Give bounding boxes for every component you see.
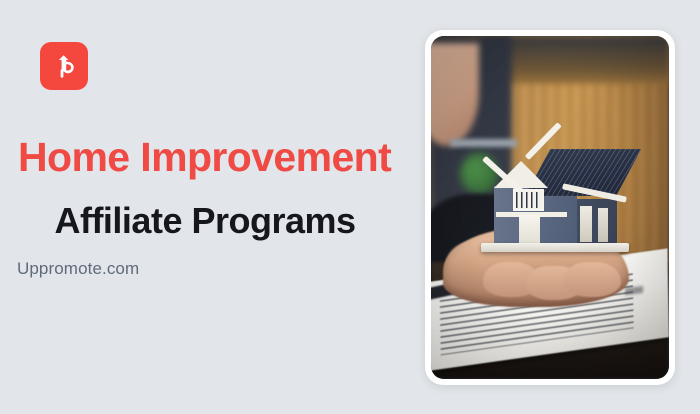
promo-banner: Home Improvement Affiliate Programs Uppr… [0, 0, 700, 414]
photo-background-bar [450, 139, 517, 148]
house-front-door [519, 215, 540, 244]
house-side-door-2 [598, 208, 608, 242]
headline-line-1: Home Improvement [18, 132, 418, 182]
up-arrow-logo-icon [50, 52, 78, 80]
photo-image [431, 36, 669, 379]
photo-card [425, 30, 675, 385]
house-base-platform [481, 243, 629, 252]
house-window [513, 189, 544, 211]
text-column: Home Improvement Affiliate Programs Uppr… [0, 0, 420, 414]
site-url-label: Uppromote.com [17, 258, 139, 280]
house-window-panes [516, 192, 541, 208]
house-side-door [580, 206, 592, 242]
photo-hand-finger [564, 262, 621, 296]
document-stamp [626, 286, 643, 296]
photo-model-house [481, 149, 629, 252]
headline-line-2: Affiliate Programs [0, 198, 410, 244]
uppromote-logo[interactable] [40, 42, 88, 90]
